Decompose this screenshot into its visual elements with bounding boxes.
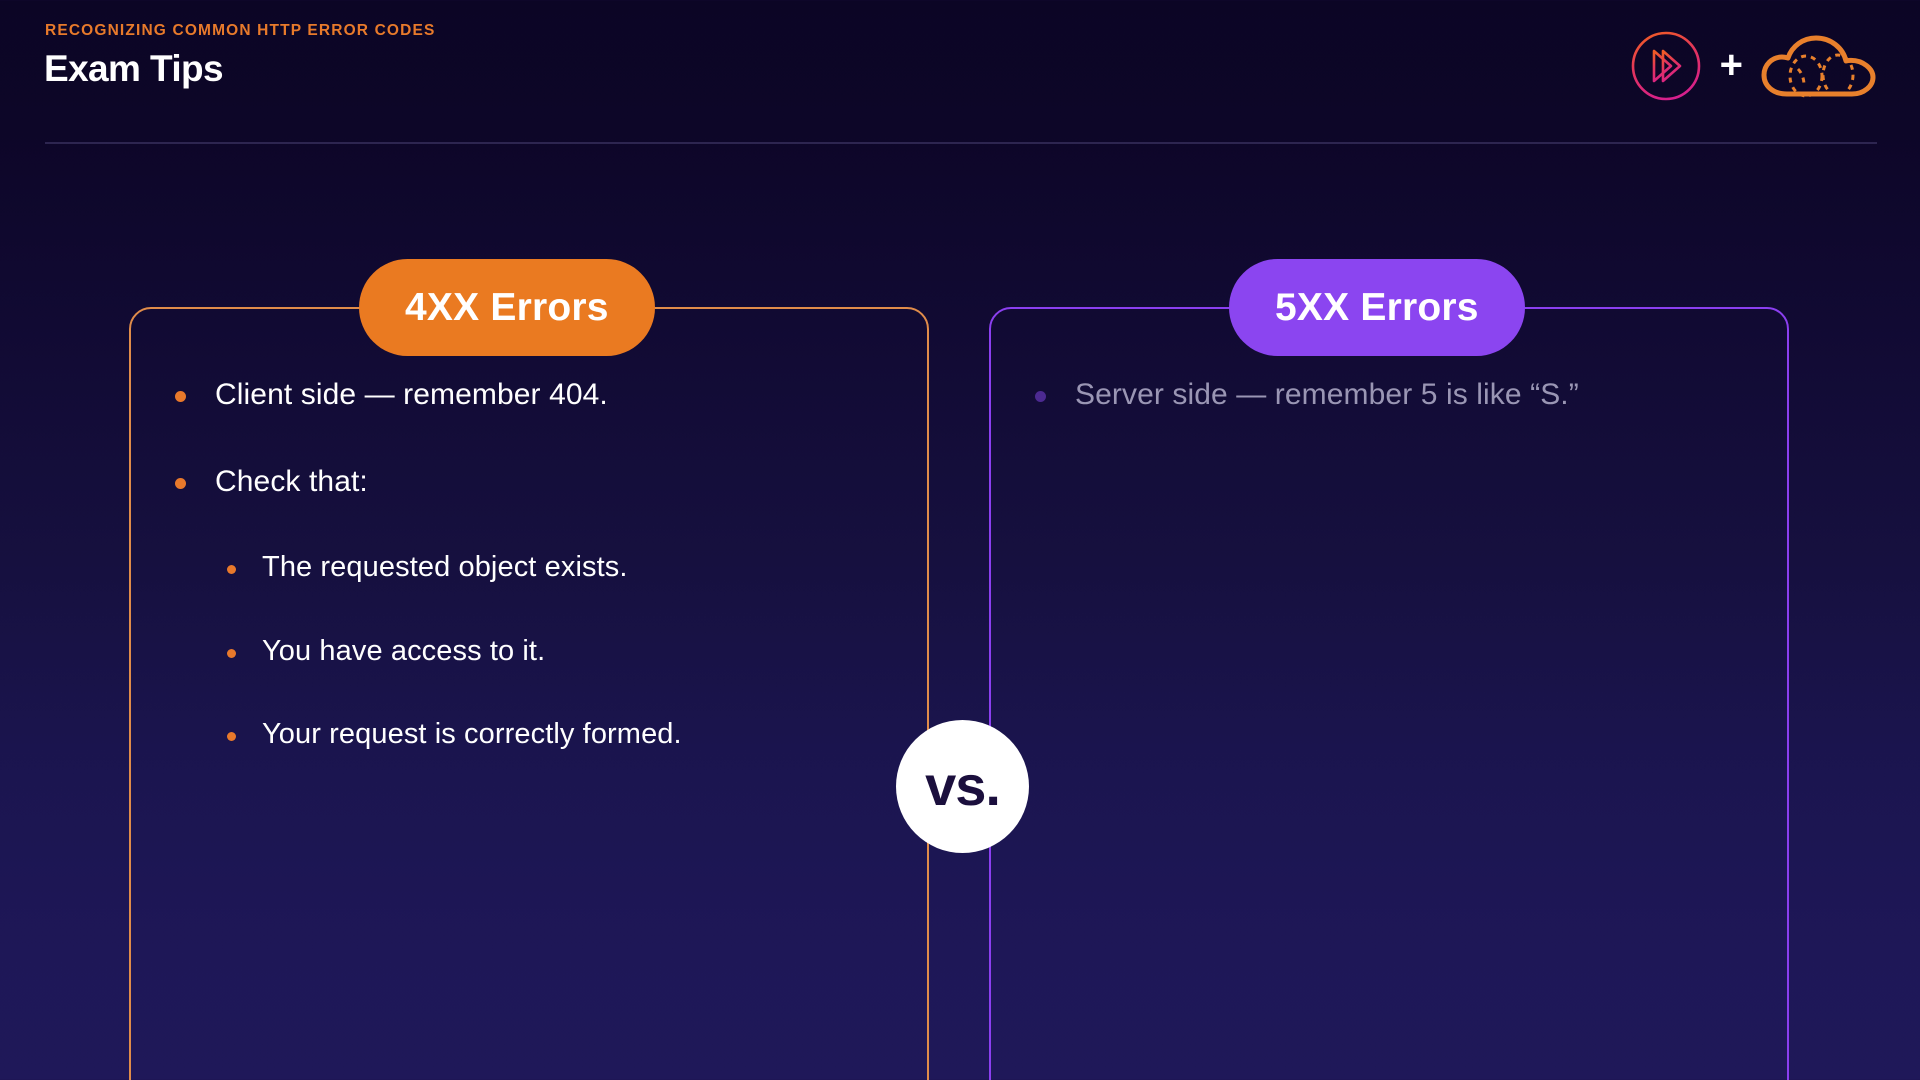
comparison-stage: 4XX Errors Client side — remember 404. C… bbox=[0, 150, 1920, 1080]
list-item-text: You have access to it. bbox=[262, 633, 545, 671]
list-item-text: Client side — remember 404. bbox=[215, 375, 608, 414]
card-4xx-bullet-list: Client side — remember 404. Check that: … bbox=[175, 375, 915, 800]
bullet-dot-icon bbox=[227, 565, 236, 574]
bullet-dot-icon bbox=[1035, 391, 1046, 402]
list-item: Client side — remember 404. bbox=[175, 375, 915, 414]
versus-badge: vs. bbox=[896, 720, 1029, 853]
list-item: Your request is correctly formed. bbox=[227, 716, 915, 754]
bullet-dot-icon bbox=[175, 391, 186, 402]
list-item-text: Check that: bbox=[215, 462, 368, 501]
list-item: Check that: bbox=[175, 462, 915, 501]
bullet-dot-icon bbox=[227, 649, 236, 658]
bullet-dot-icon bbox=[227, 732, 236, 741]
card-5xx-title-pill: 5XX Errors bbox=[1229, 259, 1525, 356]
list-item: Server side — remember 5 is like “S.” bbox=[1035, 375, 1775, 414]
play-circle-icon bbox=[1629, 29, 1703, 103]
card-5xx-bullet-list: Server side — remember 5 is like “S.” bbox=[1035, 375, 1775, 462]
versus-label: vs. bbox=[925, 758, 1000, 814]
list-item-text: Server side — remember 5 is like “S.” bbox=[1075, 375, 1579, 414]
page-header: RECOGNIZING COMMON HTTP ERROR CODES Exam… bbox=[0, 0, 1920, 150]
list-item-text: Your request is correctly formed. bbox=[262, 716, 682, 754]
eyebrow-label: RECOGNIZING COMMON HTTP ERROR CODES bbox=[45, 22, 435, 40]
list-item: The requested object exists. bbox=[227, 549, 915, 587]
plus-icon: + bbox=[1720, 45, 1743, 85]
list-item: You have access to it. bbox=[227, 633, 915, 671]
cloud-outline-icon bbox=[1760, 33, 1878, 99]
list-item-text: The requested object exists. bbox=[262, 549, 628, 587]
header-divider bbox=[45, 142, 1877, 144]
bullet-dot-icon bbox=[175, 478, 186, 489]
card-4xx-title-pill: 4XX Errors bbox=[359, 259, 655, 356]
page-title: Exam Tips bbox=[44, 48, 223, 90]
logo-lockup: + bbox=[1629, 28, 1878, 104]
